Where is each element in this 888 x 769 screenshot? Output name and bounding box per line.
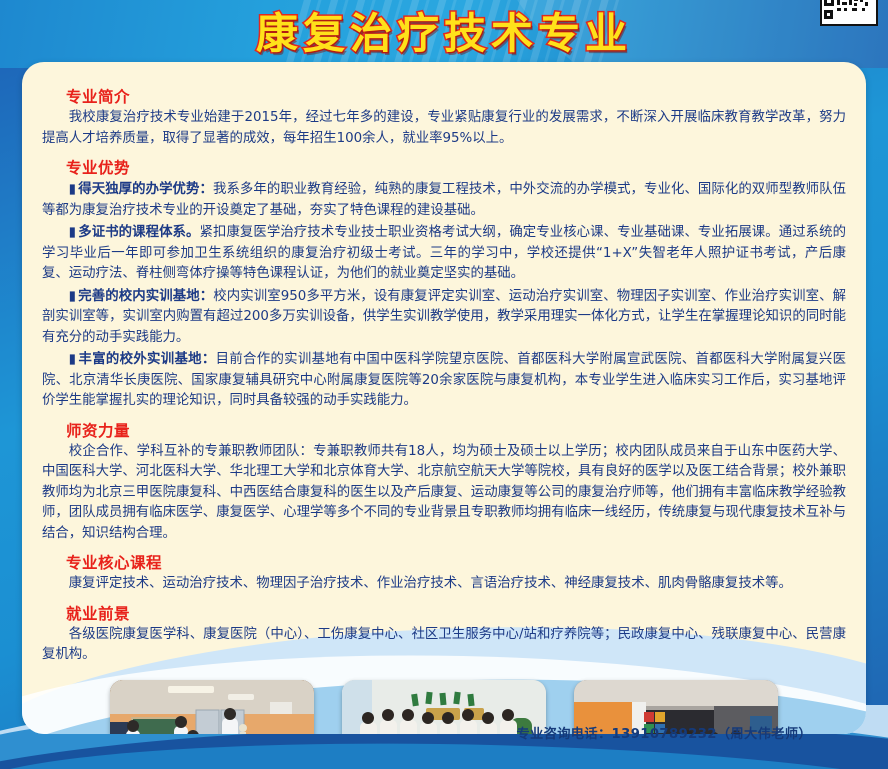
bullet-marker-icon: ▮: [69, 225, 76, 240]
section-body-faculty: 校企合作、学科互补的专兼职教师团队：专兼职教师共有18人，均为硕士及硕士以上学历…: [42, 442, 846, 545]
section-heading-advantages: 专业优势: [66, 156, 852, 178]
bullet-item-certificate-system: ▮多证书的课程体系。紧扣康复医学治疗技术专业技士职业资格考试大纲，确定专业核心课…: [42, 223, 846, 285]
section-heading-career: 就业前景: [66, 602, 852, 624]
bullet-lead-certificate-system: 多证书的课程体系。: [78, 225, 199, 240]
bullet-marker-icon: ▮: [69, 352, 76, 367]
section-heading-faculty: 师资力量: [66, 419, 852, 441]
section-heading-intro: 专业简介: [66, 85, 852, 107]
poster-title: 康复治疗技术专业: [0, 6, 888, 62]
photo-training-room: [110, 680, 314, 735]
contact-phone-text: 专业咨询电话：13910789232（周大伟老师）: [516, 723, 812, 742]
qr-code-icon[interactable]: [820, 0, 878, 26]
bullet-lead-teaching-advantage: 得天独厚的办学优势：: [78, 182, 213, 197]
photo-training-room-image: [110, 680, 314, 735]
bullet-lead-offcampus-base: 丰富的校外实训基地：: [78, 352, 215, 367]
section-body-intro: 我校康复治疗技术专业始建于2015年，经过七年多的建设，专业紧贴康复行业的发展需…: [42, 108, 846, 149]
bullet-marker-icon: ▮: [69, 289, 76, 304]
bullet-marker-icon: ▮: [69, 182, 76, 197]
section-heading-core-courses: 专业核心课程: [66, 551, 852, 573]
bullet-lead-oncampus-base: 完善的校内实训基地：: [78, 289, 213, 304]
bullet-item-teaching-advantage: ▮得天独厚的办学优势：我系多年的职业教育经验，纯熟的康复工程技术，中外交流的办学…: [42, 180, 846, 221]
bullet-item-oncampus-base: ▮完善的校内实训基地：校内实训室950多平方米，设有康复评定实训室、运动治疗实训…: [42, 287, 846, 349]
poster-root: 康复治疗技术专业 专业简介: [0, 0, 888, 769]
photo-class-group: [342, 680, 546, 735]
section-body-core-courses: 康复评定技术、运动治疗技术、物理因子治疗技术、作业治疗技术、言语治疗技术、神经康…: [42, 574, 846, 595]
content-card: 专业简介 我校康复治疗技术专业始建于2015年，经过七年多的建设，专业紧贴康复行…: [22, 62, 866, 734]
section-body-career: 各级医院康复医学科、康复医院（中心）、工伤康复中心、社区卫生服务中心/站和疗养院…: [42, 625, 846, 666]
photo-class-group-image: [342, 680, 546, 735]
bullet-item-offcampus-base: ▮丰富的校外实训基地：目前合作的实训基地有中国中医科学院望京医院、首都医科大学附…: [42, 350, 846, 412]
header-band: 康复治疗技术专业: [0, 0, 888, 68]
